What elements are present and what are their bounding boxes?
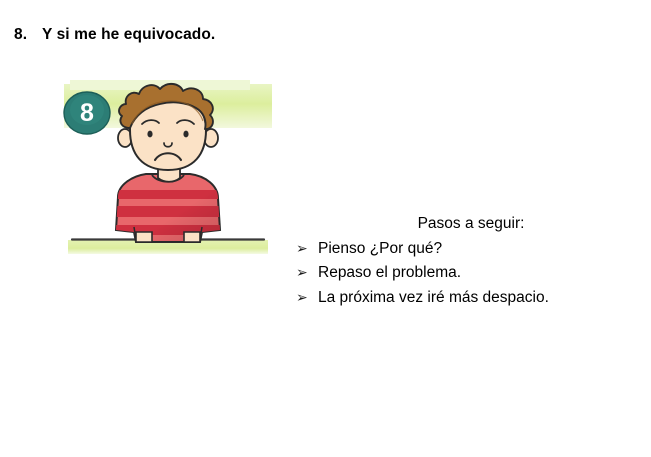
steps-block: Pasos a seguir: ➢ Pienso ¿Por qué? ➢ Rep… — [296, 216, 636, 314]
steps-title: Pasos a seguir: — [296, 216, 636, 232]
boy-eye-left — [147, 131, 152, 138]
boy-illustration-svg: 8 — [60, 80, 276, 256]
page-title: 8.Y si me he equivocado. — [14, 26, 215, 43]
list-item-label: La próxima vez iré más despacio. — [318, 290, 636, 306]
arrow-bullet-icon: ➢ — [296, 242, 318, 256]
arrow-bullet-icon: ➢ — [296, 291, 318, 305]
illustration: 8 — [60, 80, 276, 256]
page-title-text: Y si me he equivocado. — [42, 26, 215, 43]
boy-eye-right — [183, 131, 188, 138]
list-item-label: Repaso el problema. — [318, 265, 636, 281]
list-item-label: Pienso ¿Por qué? — [318, 241, 636, 257]
number-badge: 8 — [64, 92, 110, 134]
page-title-number: 8. — [14, 26, 42, 43]
badge-number: 8 — [80, 99, 94, 127]
arrow-bullet-icon: ➢ — [296, 266, 318, 280]
list-item: ➢ Repaso el problema. — [296, 265, 636, 281]
worksheet-page: 8.Y si me he equivocado. — [0, 0, 651, 457]
list-item: ➢ La próxima vez iré más despacio. — [296, 290, 636, 306]
list-item: ➢ Pienso ¿Por qué? — [296, 241, 636, 257]
